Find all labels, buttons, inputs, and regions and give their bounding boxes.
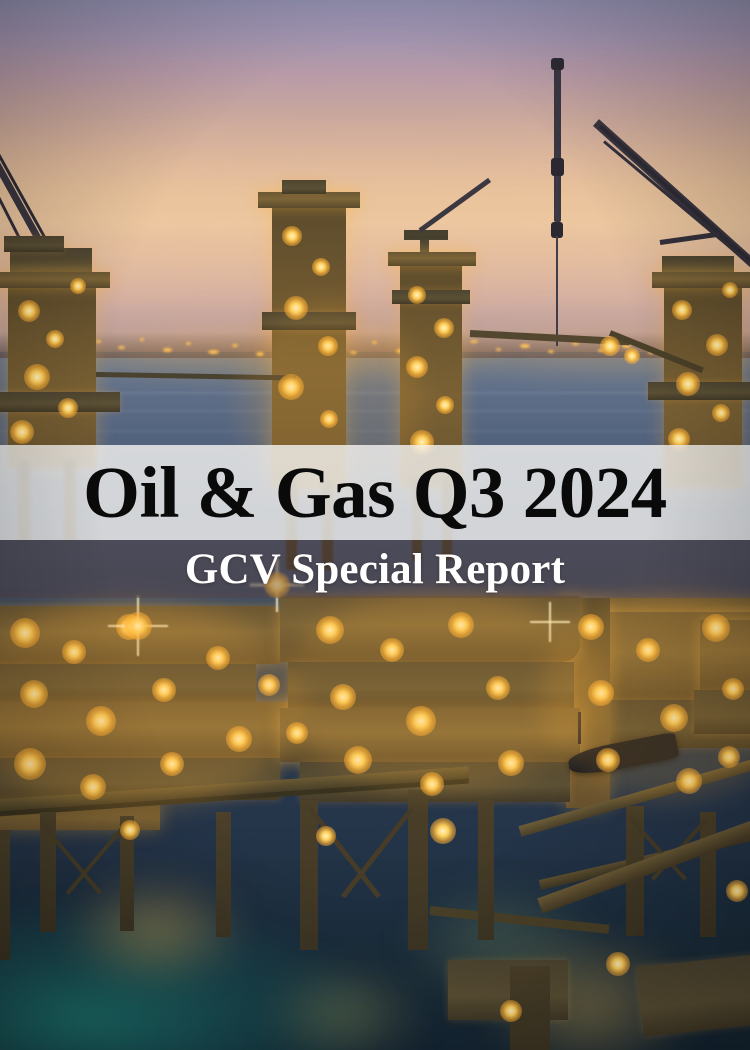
water-teal-glow — [0, 900, 380, 1050]
cloud-streak — [0, 104, 750, 113]
cloud-streak — [0, 70, 750, 82]
cloud-streak — [0, 42, 750, 52]
page-subtitle: GCV Special Report — [0, 540, 750, 598]
cloud-streak — [0, 264, 750, 274]
cloud-streak — [0, 236, 750, 248]
page-title: Oil & Gas Q3 2024 — [0, 445, 750, 540]
cloud-streak — [0, 18, 750, 32]
water-ripple — [0, 430, 750, 432]
report-cover: Oil & Gas Q3 2024 GCV Special Report — [0, 0, 750, 1050]
vessel-mast — [578, 712, 581, 744]
cloud-streak — [0, 198, 750, 214]
cloud-streak — [0, 132, 750, 146]
